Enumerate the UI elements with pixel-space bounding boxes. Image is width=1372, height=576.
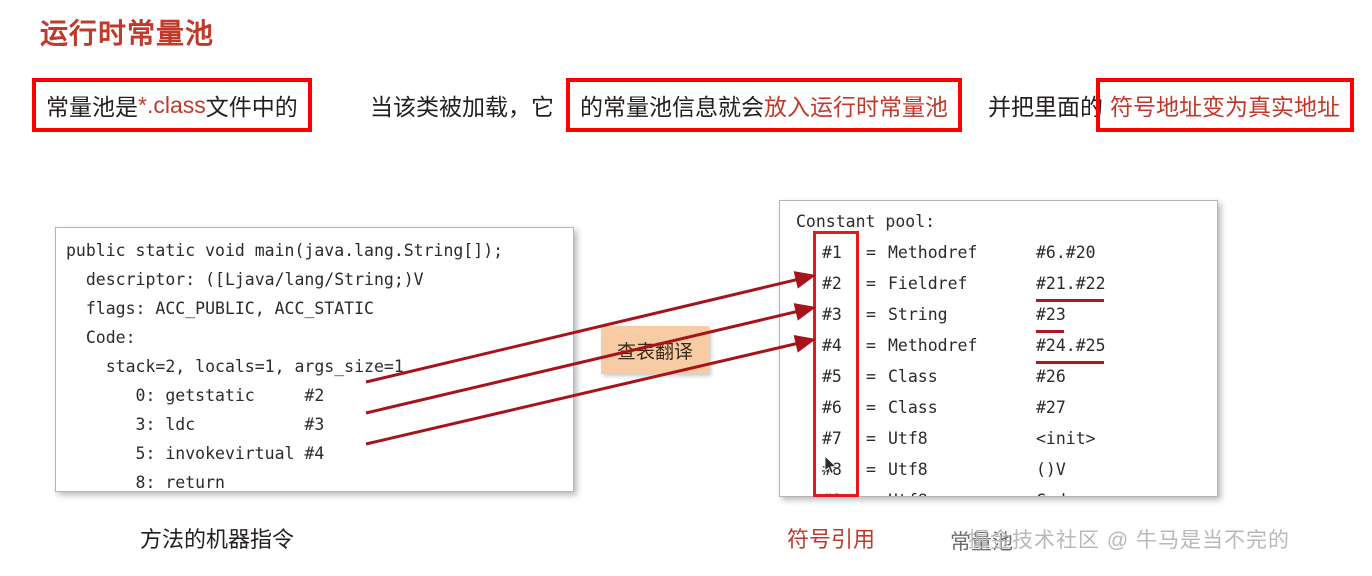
code-line: 0: getstatic #2 (66, 381, 563, 410)
statement-3-highlight: 符号地址变为真实地址 (1110, 88, 1340, 122)
statement-2-highlight: 放入运行时常量池 (764, 88, 948, 122)
constant-pool-equals: = (866, 485, 888, 497)
constant-pool-equals: = (866, 268, 888, 299)
constant-pool-index: #8 (790, 454, 866, 485)
constant-pool-row: #4=Methodref#24.#25 (790, 330, 1217, 361)
watermark: 掘金技术社区 @ 牛马是当不完的 (968, 524, 1290, 554)
constant-pool-type: Utf8 (888, 423, 1036, 454)
constant-pool-value: ()V (1036, 454, 1066, 485)
code-line: 5: invokevirtual #4 (66, 439, 563, 468)
constant-pool-row: #1=Methodref#6.#20 (790, 237, 1217, 268)
method-bytecode-panel: public static void main(java.lang.String… (55, 227, 574, 492)
statement-box-2: 的常量池信息就会放入运行时常量池 (566, 78, 962, 132)
code-line: stack=2, locals=1, args_size=1 (66, 352, 563, 381)
statement-2-prefix: 的常量池信息就会 (580, 88, 764, 122)
constant-pool-value: #26 (1036, 361, 1066, 392)
constant-pool-row: #2=Fieldref#21.#22 (790, 268, 1217, 299)
constant-pool-type: Utf8 (888, 485, 1036, 497)
statement-1-highlight: *.class (138, 92, 206, 119)
constant-pool-value: Code (1036, 485, 1076, 497)
constant-pool-index: #9 (790, 485, 866, 497)
lookup-translate-chip: 查表翻译 (601, 326, 709, 374)
constant-pool-type: Methodref (888, 330, 1036, 361)
code-line: 8: return (66, 468, 563, 492)
constant-pool-index: #3 (790, 299, 866, 330)
code-line: descriptor: ([Ljava/lang/String;)V (66, 265, 563, 294)
constant-pool-rows: #1=Methodref#6.#20#2=Fieldref#21.#22#3=S… (790, 237, 1217, 497)
code-line: 3: ldc #3 (66, 410, 563, 439)
code-line: Code: (66, 323, 563, 352)
constant-pool-equals: = (866, 392, 888, 423)
constant-pool-type: Class (888, 392, 1036, 423)
constant-pool-equals: = (866, 299, 888, 330)
constant-pool-index: #1 (790, 237, 866, 268)
page-title: 运行时常量池 (40, 12, 214, 52)
constant-pool-equals: = (866, 237, 888, 268)
statement-row: 常量池是 *.class 文件中的 当该类被加载，它 的常量池信息就会放入运行时… (0, 78, 1372, 136)
constant-pool-equals: = (866, 454, 888, 485)
constant-pool-type: Utf8 (888, 454, 1036, 485)
constant-pool-value: #21.#22 (1036, 268, 1106, 299)
code-line: public static void main(java.lang.String… (66, 236, 563, 265)
code-line: flags: ACC_PUBLIC, ACC_STATIC (66, 294, 563, 323)
constant-pool-index: #2 (790, 268, 866, 299)
constant-pool-value: #6.#20 (1036, 237, 1096, 268)
caption-method-instructions: 方法的机器指令 (140, 522, 294, 554)
statement-box-3: 符号地址变为真实地址 (1096, 78, 1354, 132)
constant-pool-type: String (888, 299, 1036, 330)
statement-3-lead: 并把里面的 (984, 78, 1103, 132)
constant-pool-panel: Constant pool: #1=Methodref#6.#20#2=Fiel… (779, 200, 1218, 497)
constant-pool-row: #9=Utf8Code (790, 485, 1217, 497)
constant-pool-index: #7 (790, 423, 866, 454)
constant-pool-value: #23 (1036, 299, 1066, 330)
constant-pool-type: Fieldref (888, 268, 1036, 299)
statement-2-lead: 当该类被加载，它 (366, 78, 554, 132)
constant-pool-type: Class (888, 361, 1036, 392)
caption-symbolic-reference: 符号引用 (787, 522, 875, 554)
constant-pool-value: #27 (1036, 392, 1066, 423)
constant-pool-value: <init> (1036, 423, 1096, 454)
statement-1-suffix: 文件中的 (206, 88, 298, 122)
constant-pool-index: #6 (790, 392, 866, 423)
constant-pool-row: #6=Class#27 (790, 392, 1217, 423)
constant-pool-equals: = (866, 361, 888, 392)
constant-pool-equals: = (866, 330, 888, 361)
statement-1-prefix: 常量池是 (46, 88, 138, 122)
constant-pool-row: #7=Utf8<init> (790, 423, 1217, 454)
constant-pool-row: #5=Class#26 (790, 361, 1217, 392)
constant-pool-equals: = (866, 423, 888, 454)
constant-pool-type: Methodref (888, 237, 1036, 268)
constant-pool-index: #4 (790, 330, 866, 361)
constant-pool-row: #3=String#23 (790, 299, 1217, 330)
constant-pool-header: Constant pool: (790, 207, 1217, 237)
statement-box-1: 常量池是 *.class 文件中的 (32, 78, 312, 132)
constant-pool-value: #24.#25 (1036, 330, 1106, 361)
constant-pool-index: #5 (790, 361, 866, 392)
constant-pool-row: #8=Utf8()V (790, 454, 1217, 485)
